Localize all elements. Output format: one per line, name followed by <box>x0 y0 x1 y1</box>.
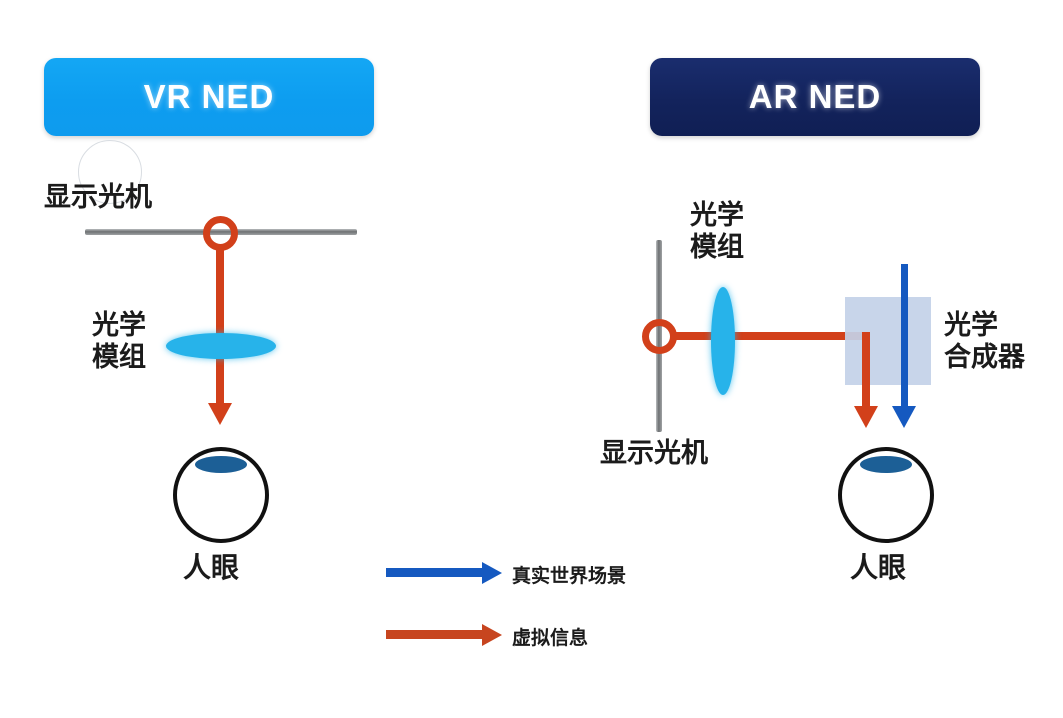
legend-blue-arrow-icon <box>386 568 484 577</box>
ar-real-world-ray <box>901 264 908 408</box>
vr-eye-icon <box>173 447 269 543</box>
ar-optical-module-label: 光学 模组 <box>690 200 744 264</box>
vr-eye-label: 人眼 <box>183 551 239 584</box>
ar-light-source-ring-icon <box>642 319 677 354</box>
ar-combiner-square-icon <box>845 297 931 385</box>
ar-ned-title-pill: AR NED <box>650 58 980 136</box>
vr-virtual-ray-arrowhead <box>208 403 232 425</box>
vr-display-engine-label: 显示光机 <box>44 182 152 214</box>
vr-ned-title-text: VR NED <box>144 78 275 116</box>
legend-item-virtual-info: 虚拟信息 <box>386 622 686 666</box>
ar-eye-icon <box>838 447 934 543</box>
vr-optical-module-label: 光学 模组 <box>92 310 146 374</box>
ar-eye-label: 人眼 <box>850 551 906 584</box>
vr-lens-icon <box>166 333 276 359</box>
legend-label-real-world: 真实世界场景 <box>512 561 626 588</box>
ar-virtual-ray-arrowhead <box>854 406 878 428</box>
legend-red-arrow-icon <box>386 630 484 639</box>
ar-real-world-ray-arrowhead <box>892 406 916 428</box>
vr-virtual-ray <box>216 248 224 404</box>
vr-light-source-ring-icon <box>203 216 238 251</box>
vr-ned-title-pill: VR NED <box>44 58 374 136</box>
ar-lens-icon <box>711 287 735 395</box>
ar-combiner-label: 光学 合成器 <box>944 310 1025 374</box>
ar-eye-pupil <box>860 456 912 473</box>
ar-display-engine-label: 显示光机 <box>600 438 708 470</box>
legend-item-real-world: 真实世界场景 <box>386 560 686 604</box>
diagram-canvas: VR NED AR NED 显示光机 光学 模组 人眼 光学 模组 光学 合成器… <box>0 0 1063 718</box>
ar-ned-title-text: AR NED <box>749 78 882 116</box>
legend-red-arrowhead-icon <box>482 624 502 646</box>
legend-label-virtual-info: 虚拟信息 <box>512 623 588 650</box>
legend: 真实世界场景 虚拟信息 <box>386 560 686 666</box>
ar-virtual-ray-vertical <box>862 332 870 408</box>
vr-eye-pupil <box>195 456 247 473</box>
ar-virtual-ray-horizontal <box>675 332 870 340</box>
legend-blue-arrowhead-icon <box>482 562 502 584</box>
